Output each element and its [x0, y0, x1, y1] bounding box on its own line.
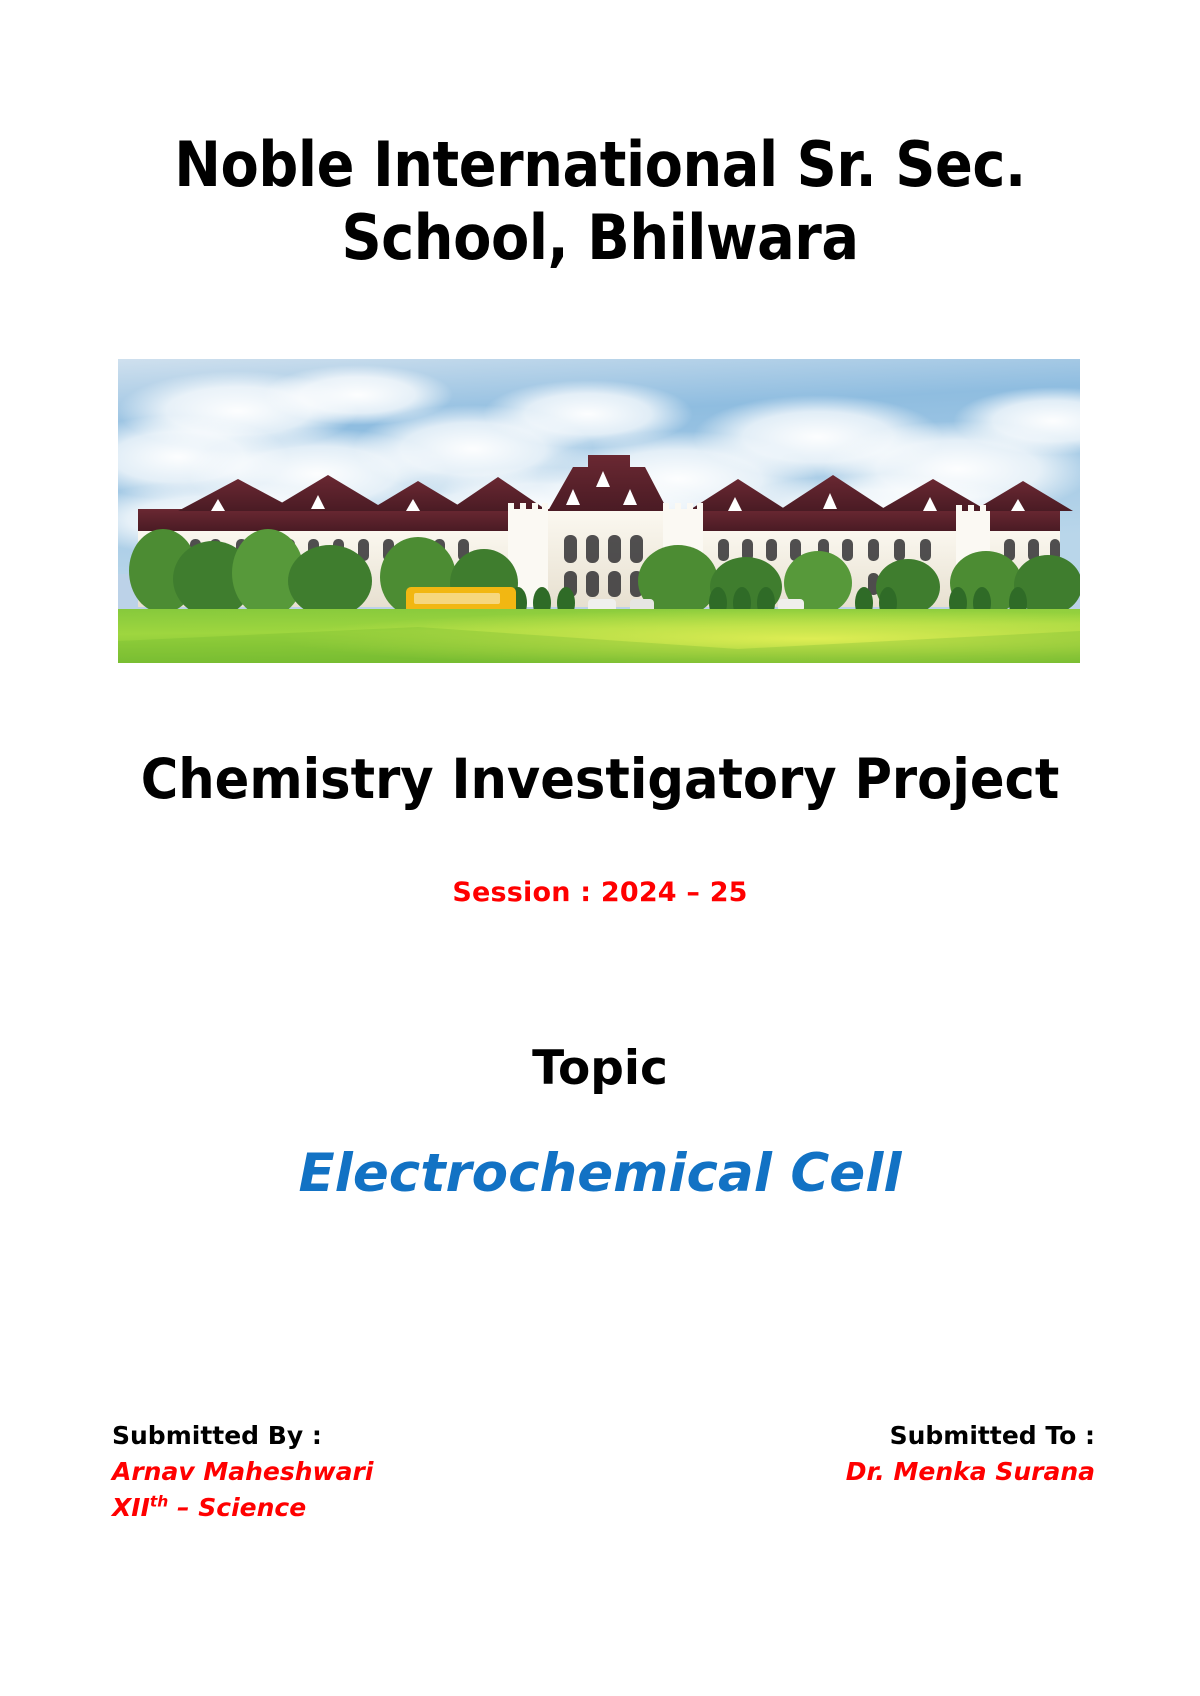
school-name-line-2: School, Bhilwara	[60, 201, 1140, 274]
student-class: XIIth – Science	[112, 1490, 373, 1526]
school-building-photo	[118, 359, 1080, 663]
submitted-to-block: Submitted To : Dr. Menka Surana	[846, 1418, 1095, 1490]
submitted-to-label: Submitted To :	[846, 1418, 1095, 1454]
footer: Submitted By : Arnav Maheshwari XIIth – …	[112, 1418, 1095, 1526]
topic-label: Topic	[0, 1041, 1200, 1096]
student-class-suffix: th	[150, 1492, 168, 1510]
teacher-name: Dr. Menka Surana	[846, 1454, 1095, 1490]
project-title: Chemistry Investigatory Project	[42, 748, 1158, 811]
cover-page: Noble International Sr. Sec. School, Bhi…	[0, 0, 1200, 1696]
submitted-by-block: Submitted By : Arnav Maheshwari XIIth – …	[112, 1418, 373, 1526]
school-name-line-1: Noble International Sr. Sec.	[60, 128, 1140, 201]
student-class-stream: – Science	[168, 1493, 306, 1522]
school-name-heading: Noble International Sr. Sec. School, Bhi…	[60, 128, 1140, 274]
student-name: Arnav Maheshwari	[112, 1454, 373, 1490]
submitted-by-label: Submitted By :	[112, 1418, 373, 1454]
topic-value: Electrochemical Cell	[0, 1143, 1200, 1204]
student-class-roman: XII	[112, 1493, 150, 1522]
session-line: Session : 2024 – 25	[0, 877, 1200, 908]
school-building-illustration	[118, 359, 1080, 663]
